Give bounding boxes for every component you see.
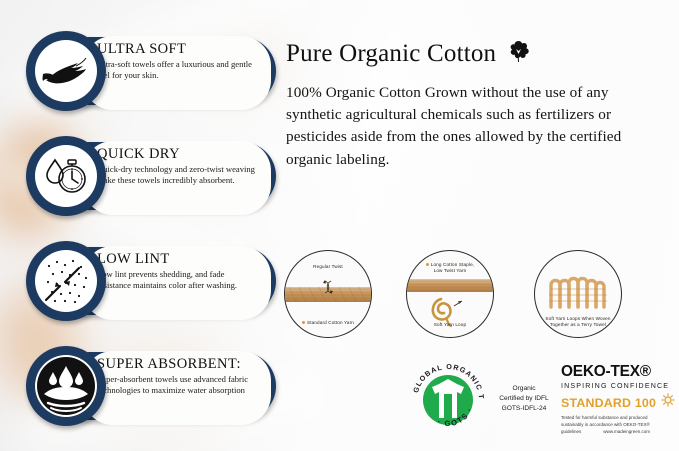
sun-icon xyxy=(661,393,675,412)
infographic-root: ULTRA SOFT Ultra-soft towels offer a lux… xyxy=(0,0,679,451)
feature-title: LOW LINT xyxy=(97,251,259,268)
description-paragraph: 100% Organic Cotton Grown without the us… xyxy=(286,82,668,171)
main-content: Pure Organic Cotton 100% Organic Cotton … xyxy=(286,38,668,171)
feature-item-quick-dry: QUICK DRY Quick-dry technology and zero-… xyxy=(26,136,276,220)
yarn-top-label: Regular Twist xyxy=(285,264,371,270)
yarn-diagram-terry-loops: Soft Yarn Loops When Woven Together as a… xyxy=(534,250,622,338)
hand-feather-icon xyxy=(26,31,106,111)
yarn-bottom-label: Soft Yarn Loop xyxy=(407,322,493,328)
feature-list: ULTRA SOFT Ultra-soft towels offer a lux… xyxy=(26,31,276,451)
oekotex-tagline: INSPIRING CONFIDENCE xyxy=(561,382,676,390)
oekotex-url: www.madeingreen.com xyxy=(603,429,650,434)
oekotex-standard: STANDARD 100 xyxy=(561,397,656,409)
feature-item-ultra-soft: ULTRA SOFT Ultra-soft towels offer a lux… xyxy=(26,31,276,115)
feature-item-super-absorbent: SUPER ABSORBENT: Super-absorbent towels … xyxy=(26,346,276,430)
feature-title: SUPER ABSORBENT: xyxy=(97,356,259,373)
yarn-top-label: Long Cotton Staple, Low Twist Yarn xyxy=(407,262,493,274)
droplet-stopwatch-icon xyxy=(26,136,106,216)
feature-description: Ultra-soft towels offer a luxurious and … xyxy=(97,59,259,82)
oekotex-badge: OEKO-TEX® INSPIRING CONFIDENCE STANDARD … xyxy=(561,364,676,436)
gots-certification-text: Organic Certified by IDFL GOTS-IDFL-24 xyxy=(493,384,555,414)
gots-logo-icon: GLOBAL ORGANIC TEXTILE STANDARD · GOTS · xyxy=(408,360,488,440)
yarn-diagram-low-twist: Long Cotton Staple, Low Twist Yarn Soft … xyxy=(406,250,494,338)
oekotex-brand: OEKO-TEX® xyxy=(561,364,676,379)
feature-title: ULTRA SOFT xyxy=(97,41,259,58)
feature-item-low-lint: LOW LINT Low lint prevents shedding, and… xyxy=(26,241,276,325)
yarn-diagram-regular-twist: Regular Twist Standard Cotton Yarn xyxy=(284,250,372,338)
yarn-diagram-group: Regular Twist Standard Cotton Yarn Long … xyxy=(284,250,674,340)
water-absorption-icon xyxy=(26,346,106,426)
headline-text: Pure Organic Cotton xyxy=(286,40,496,68)
feature-description: Quick-dry technology and zero-twist weav… xyxy=(97,164,259,187)
feature-description: Low lint prevents shedding, and fade res… xyxy=(97,269,259,292)
oekotex-fine-print: Tested for harmful substance and produce… xyxy=(561,415,676,435)
lint-particles-icon xyxy=(26,241,106,321)
feature-title: QUICK DRY xyxy=(97,146,259,163)
cotton-boll-icon xyxy=(505,38,532,70)
certification-group: GLOBAL ORGANIC TEXTILE STANDARD · GOTS ·… xyxy=(408,356,676,448)
page-title: Pure Organic Cotton xyxy=(286,38,668,70)
yarn-bottom-label: Soft Yarn Loops When Woven Together as a… xyxy=(535,316,621,328)
feature-description: Super-absorbent towels use advanced fabr… xyxy=(97,374,259,397)
yarn-bottom-label: Standard Cotton Yarn xyxy=(285,320,371,326)
